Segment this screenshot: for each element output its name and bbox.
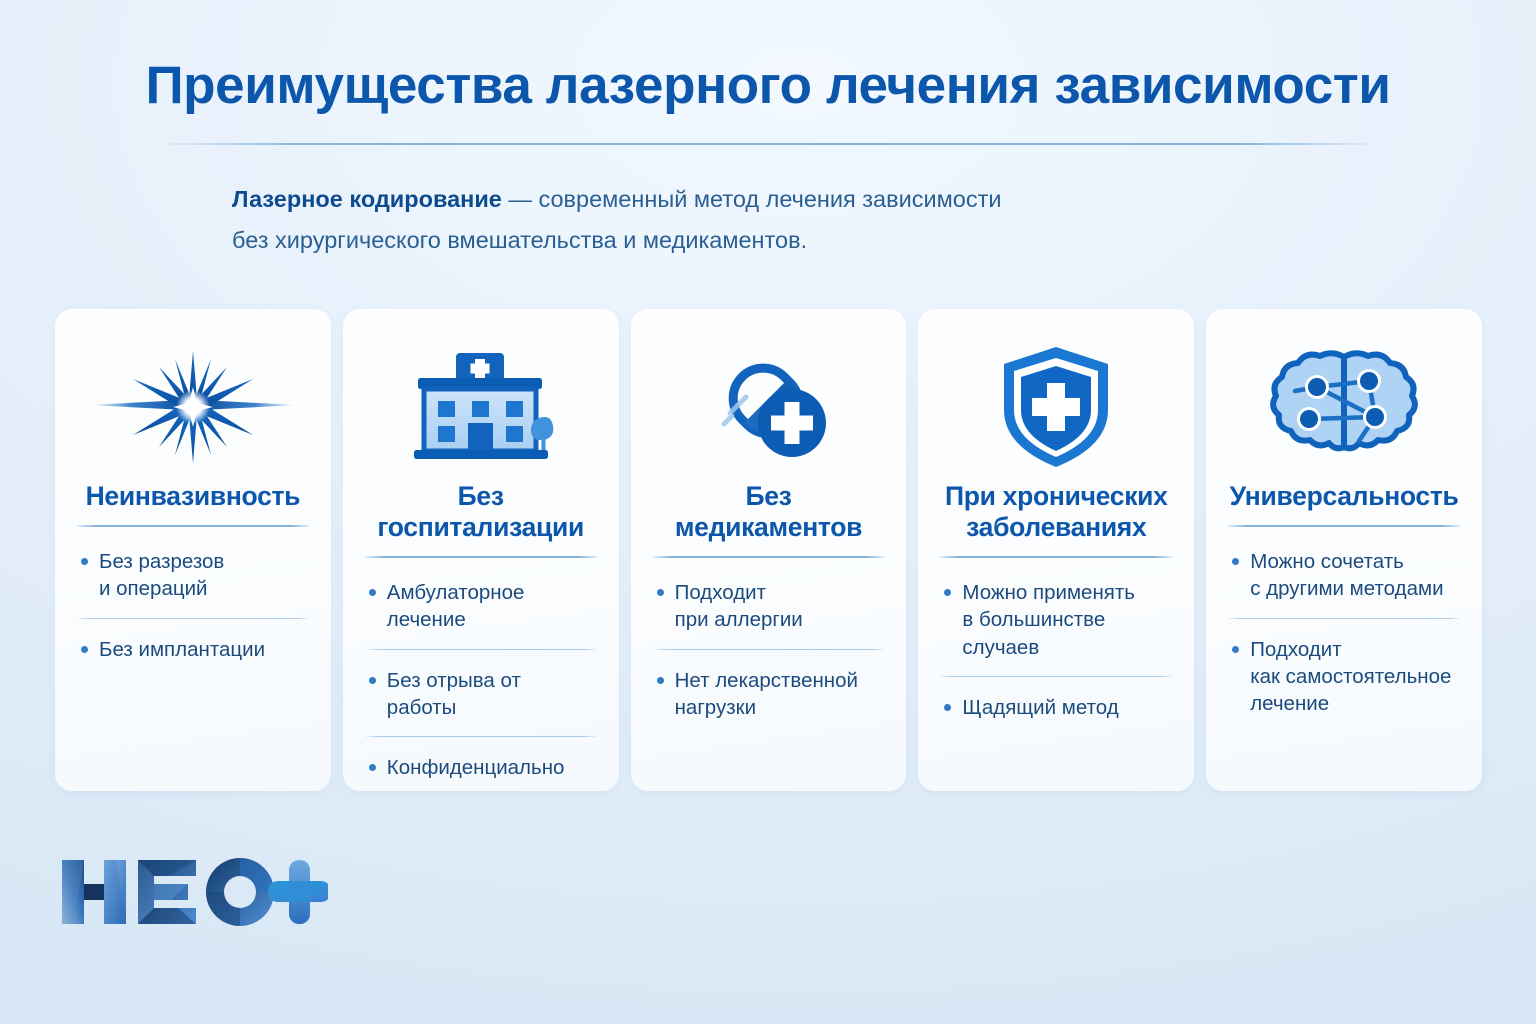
list-item: Можно сочетать с другими методами bbox=[1228, 531, 1460, 618]
list-item: Подходит при аллергии bbox=[653, 562, 885, 649]
list-item: Щадящий метод bbox=[940, 677, 1172, 736]
bullet-dot-icon bbox=[657, 589, 664, 596]
card-title: Без госпитализации bbox=[365, 481, 597, 543]
list-item: Амбулаторное лечение bbox=[365, 562, 597, 649]
benefit-card-chronic-conditions[interactable]: При хронических заболеваниях Можно приме… bbox=[918, 309, 1194, 791]
list-item: Нет лекарственной нагрузки bbox=[653, 650, 885, 737]
bullet-text: Без разрезов и операций bbox=[99, 548, 224, 603]
subtitle-line2: без хирургического вмешательства и медик… bbox=[232, 227, 807, 253]
title-divider bbox=[154, 143, 1382, 145]
pills-medicine-icon bbox=[653, 343, 885, 471]
bullet-dot-icon bbox=[1232, 558, 1239, 565]
laser-burst-icon bbox=[77, 343, 309, 471]
subtitle: Лазерное кодирование — современный метод… bbox=[232, 179, 1172, 260]
list-item: Без имплантации bbox=[77, 619, 309, 678]
list-item: Можно применять в большинстве случаев bbox=[940, 562, 1172, 676]
list-item: Без разрезов и операций bbox=[77, 531, 309, 618]
bullet-text: Можно сочетать с другими методами bbox=[1250, 548, 1443, 603]
bullet-text: Подходит при аллергии bbox=[675, 579, 803, 634]
bullet-text: Можно применять в большинстве случаев bbox=[962, 579, 1170, 661]
subtitle-strong: Лазерное кодирование bbox=[232, 186, 502, 212]
subtitle-rest: современный метод лечения зависимости bbox=[538, 186, 1001, 212]
bullet-dot-icon bbox=[369, 677, 376, 684]
bullet-text: Нет лекарственной нагрузки bbox=[675, 667, 858, 722]
bullet-text: Щадящий метод bbox=[962, 694, 1118, 721]
benefit-cards-row: Неинвазивность Без разрезов и операций Б… bbox=[55, 309, 1482, 791]
benefit-list: Амбулаторное лечение Без отрыва от работ… bbox=[365, 562, 597, 796]
brain-network-icon bbox=[1228, 343, 1460, 471]
benefit-card-universality[interactable]: Универсальность Можно сочетать с другими… bbox=[1206, 309, 1482, 791]
bullet-text: Конфиденциально bbox=[387, 754, 565, 781]
bullet-dot-icon bbox=[657, 677, 664, 684]
benefit-card-no-medication[interactable]: Без медикаментов Подходит при аллергии Н… bbox=[631, 309, 907, 791]
bullet-text: Без отрыва от работы bbox=[387, 667, 595, 722]
bullet-text: Амбулаторное лечение bbox=[387, 579, 525, 634]
bullet-text: Без имплантации bbox=[99, 636, 265, 663]
card-title: Без медикаментов bbox=[653, 481, 885, 543]
header: Преимущества лазерного лечения зависимос… bbox=[0, 0, 1536, 260]
list-item: Подходит как самостоятельное лечение bbox=[1228, 619, 1460, 733]
card-title: Универсальность bbox=[1228, 481, 1460, 512]
bullet-dot-icon bbox=[369, 764, 376, 771]
subtitle-dash: — bbox=[502, 186, 539, 212]
card-title: Неинвазивность bbox=[77, 481, 309, 512]
list-item: Без отрыва от работы bbox=[365, 650, 597, 737]
bullet-dot-icon bbox=[1232, 646, 1239, 653]
card-title-separator bbox=[77, 525, 309, 527]
card-title-separator bbox=[365, 556, 597, 558]
infographic-poster: Преимущества лазерного лечения зависимос… bbox=[0, 0, 1536, 1024]
bullet-dot-icon bbox=[81, 646, 88, 653]
card-title: При хронических заболеваниях bbox=[940, 481, 1172, 543]
bullet-dot-icon bbox=[369, 589, 376, 596]
bullet-text: Подходит как самостоятельное лечение bbox=[1250, 636, 1451, 718]
card-title-separator bbox=[653, 556, 885, 558]
bullet-dot-icon bbox=[944, 589, 951, 596]
page-title: Преимущества лазерного лечения зависимос… bbox=[0, 56, 1536, 115]
shield-cross-icon bbox=[940, 343, 1172, 471]
benefit-card-no-hospitalization[interactable]: Без госпитализации Амбулаторное лечение … bbox=[343, 309, 619, 791]
brand-logo[interactable] bbox=[58, 850, 328, 934]
benefit-card-noninvasive[interactable]: Неинвазивность Без разрезов и операций Б… bbox=[55, 309, 331, 791]
benefit-list: Подходит при аллергии Нет лекарственной … bbox=[653, 562, 885, 771]
bullet-dot-icon bbox=[81, 558, 88, 565]
benefit-list: Без разрезов и операций Без имплантации bbox=[77, 531, 309, 771]
card-title-separator bbox=[940, 556, 1172, 558]
card-title-separator bbox=[1228, 525, 1460, 527]
benefit-list: Можно сочетать с другими методами Подход… bbox=[1228, 531, 1460, 771]
bullet-dot-icon bbox=[944, 704, 951, 711]
list-item: Конфиденциально bbox=[365, 737, 597, 796]
benefit-list: Можно применять в большинстве случаев Ща… bbox=[940, 562, 1172, 771]
hospital-building-icon bbox=[365, 343, 597, 471]
